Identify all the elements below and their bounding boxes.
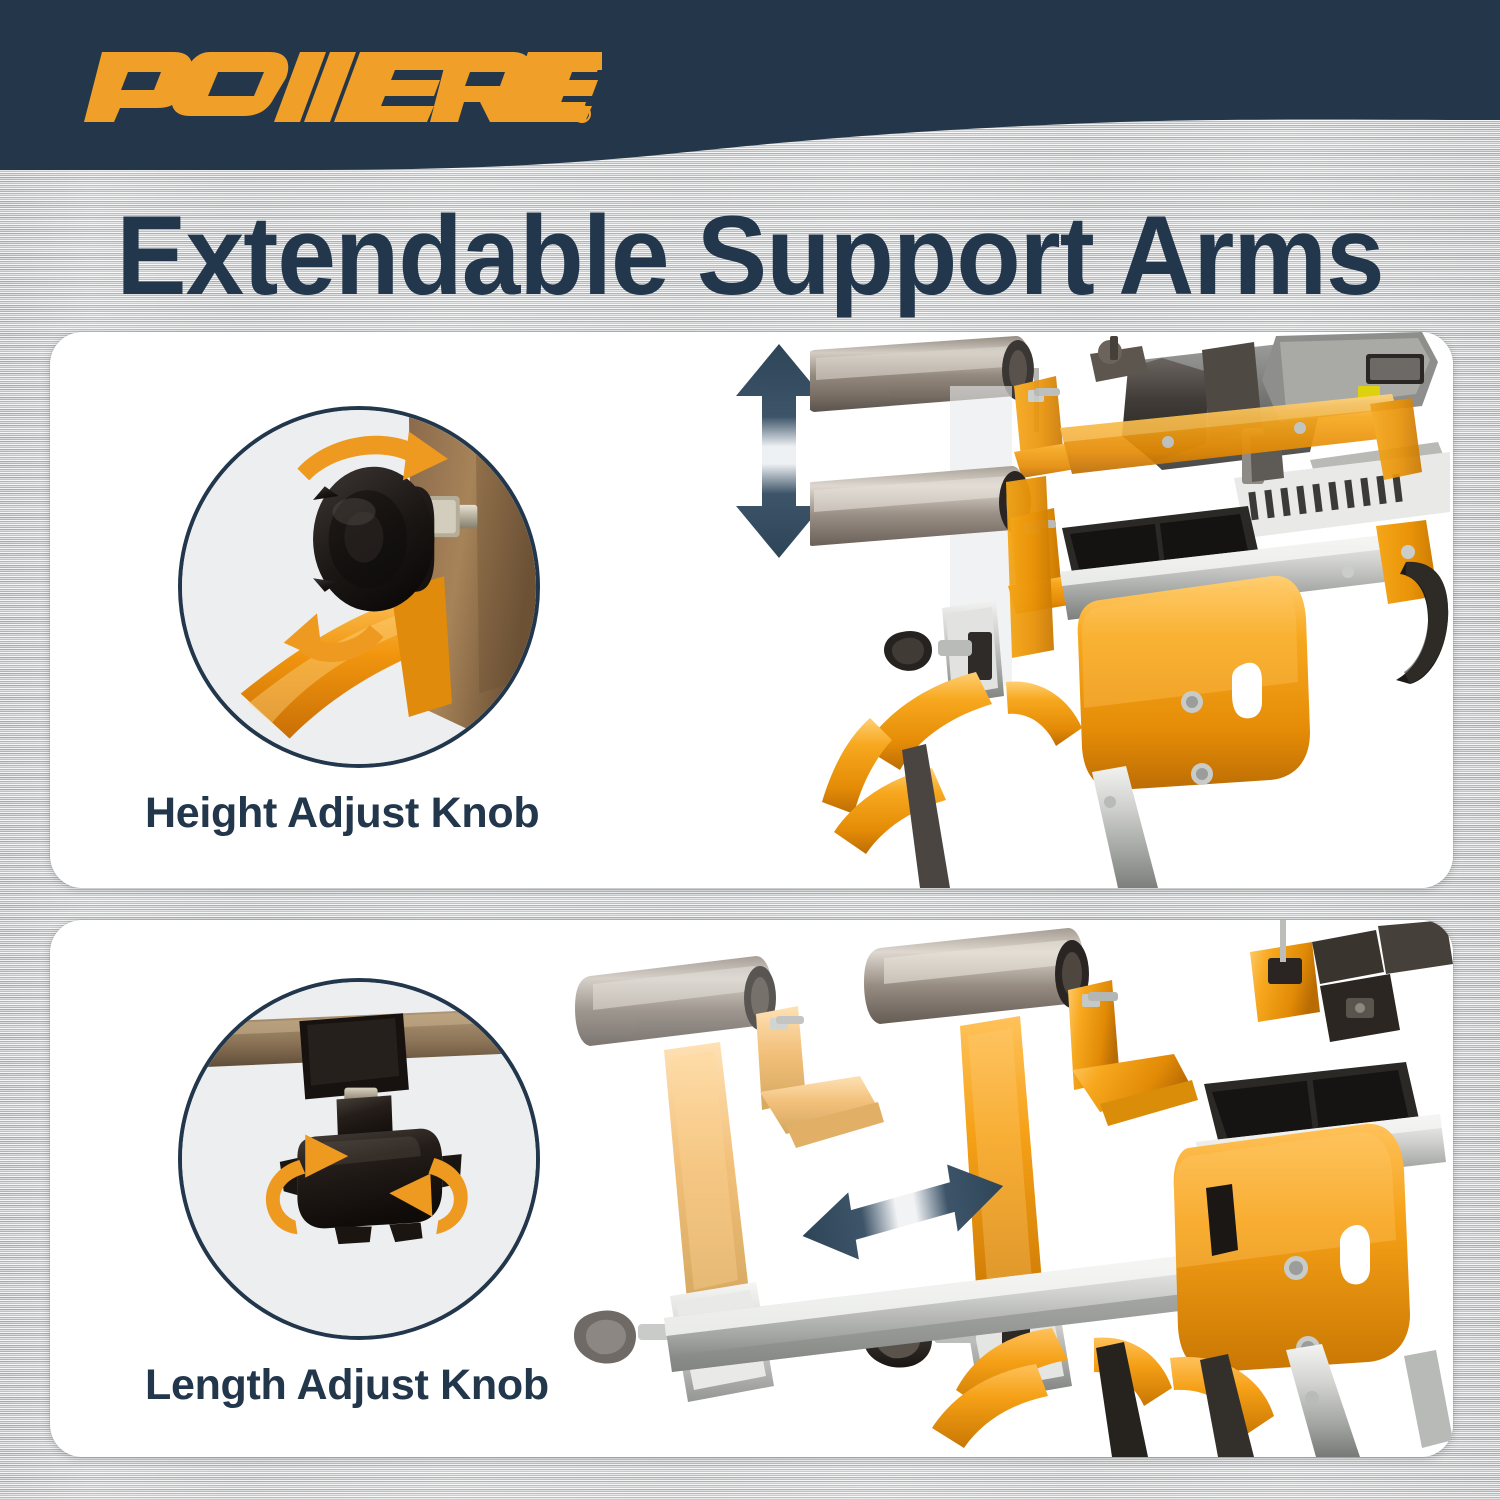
knob-rotate-icon: [178, 406, 540, 768]
feature-card-length-adjust: Length Adjust Knob: [50, 920, 1453, 1457]
page-title: Extendable Support Arms: [45, 196, 1455, 316]
svg-text:R: R: [578, 109, 586, 121]
card-label-height-adjust: Height Adjust Knob: [145, 788, 539, 838]
infographic-page: R Extendable Support Arms: [0, 0, 1500, 1500]
card-label-length-adjust: Length Adjust Knob: [145, 1360, 549, 1410]
knob-rotate-icon: [178, 978, 540, 1340]
powertec-logo: R: [62, 48, 602, 126]
feature-card-height-adjust: Height Adjust Knob: [50, 332, 1453, 888]
product-photo-height-adjust: [810, 332, 1453, 888]
product-photo-length-adjust: [560, 920, 1453, 1457]
